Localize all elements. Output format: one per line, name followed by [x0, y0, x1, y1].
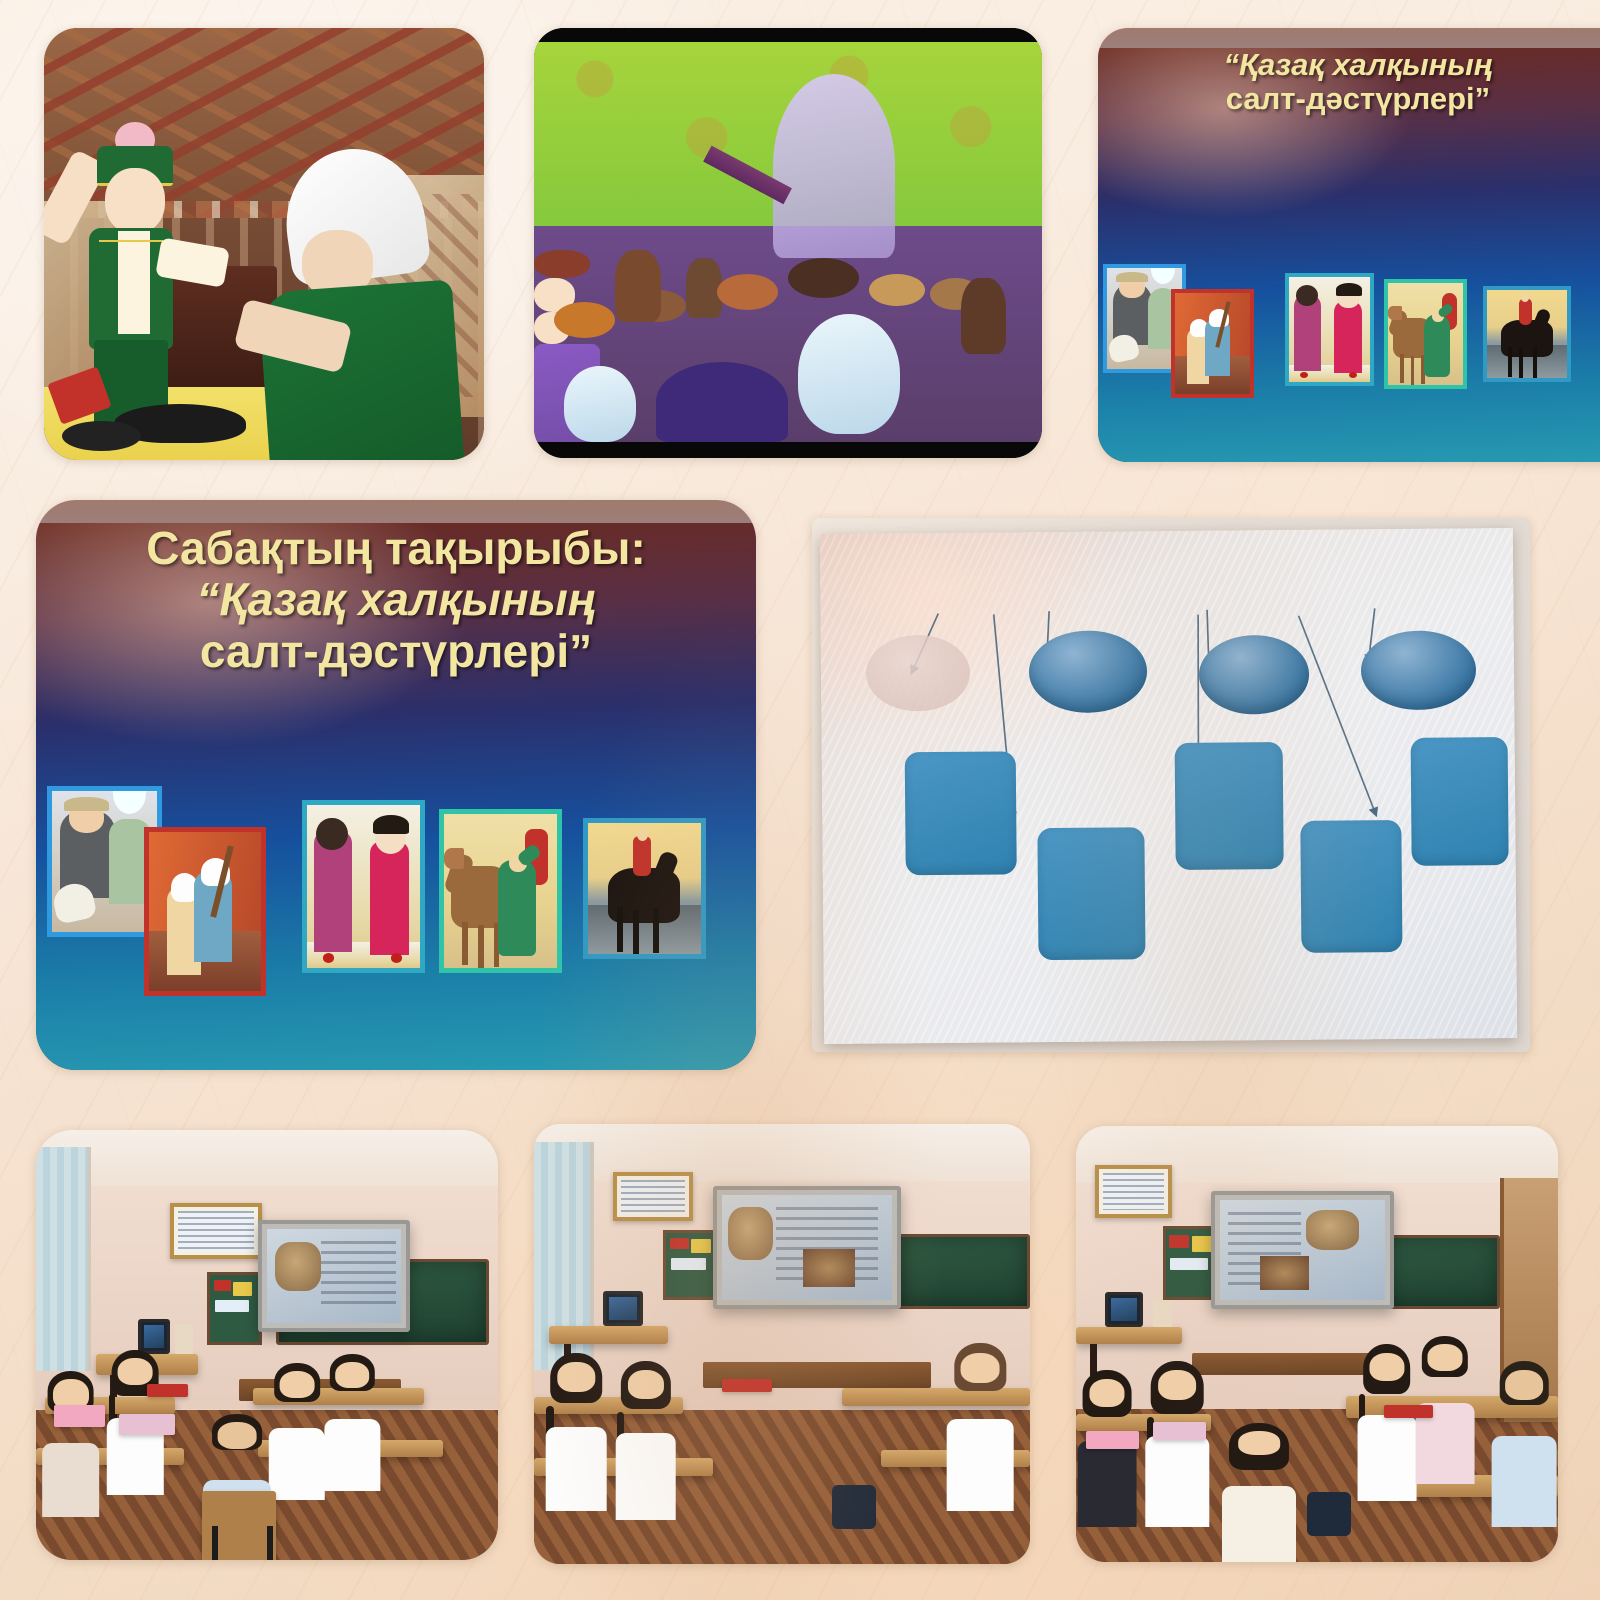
- chair-leg-1: [212, 1526, 218, 1560]
- book-pink-2: [119, 1414, 174, 1436]
- screen-picture: [728, 1207, 772, 1260]
- slide-traditions-diagram[interactable]: Атқа мінгізу: [812, 518, 1530, 1052]
- photo-child-hair: [373, 815, 409, 835]
- boy-head: [105, 168, 166, 235]
- student-3: [946, 1353, 1015, 1511]
- slide-photo-kids: [302, 800, 424, 973]
- classroom-scene-1: [36, 1130, 498, 1560]
- student-1-torso: [1078, 1441, 1137, 1527]
- pinboard: [663, 1230, 718, 1300]
- photo-man-green: [498, 860, 536, 956]
- projector-screen-image: [267, 1229, 401, 1323]
- slide-photo-horse-race: [1483, 286, 1571, 383]
- photo-classroom-2[interactable]: [534, 1124, 1030, 1564]
- bowl-1: [554, 302, 615, 338]
- slide-photo-spinning: [1171, 289, 1254, 398]
- white-sack-small: [564, 366, 635, 442]
- ceiling: [36, 1130, 498, 1186]
- photo-horse-leg-2: [478, 925, 484, 968]
- student-5-head: [218, 1422, 257, 1448]
- student-4-torso: [1357, 1415, 1416, 1501]
- node-besikke-salu[interactable]: [1175, 741, 1283, 869]
- computer-monitor: [138, 1319, 170, 1353]
- node-salemdeme[interactable]: [1029, 630, 1147, 713]
- photo-shoe-right: [391, 953, 402, 963]
- wall-poster: [170, 1203, 262, 1259]
- projector-screen-image: [722, 1195, 892, 1300]
- student-4-head: [336, 1362, 370, 1388]
- slide-photo-horse-race: [583, 818, 705, 959]
- bowl-4: [869, 274, 925, 306]
- book-red: [722, 1379, 772, 1392]
- black-shoes-second: [62, 421, 141, 451]
- backpack: [832, 1485, 877, 1529]
- wall-poster: [613, 1172, 692, 1220]
- classroom-scene-2: [534, 1124, 1030, 1564]
- projector-screen-image: [1220, 1200, 1385, 1300]
- computer-monitor: [1105, 1292, 1144, 1327]
- book-red: [1384, 1405, 1432, 1418]
- feast-scene: [534, 42, 1042, 442]
- student-5-head: [1427, 1344, 1462, 1371]
- student-1: [544, 1362, 608, 1512]
- book-red: [147, 1384, 189, 1397]
- slide-photo-kids: [1285, 273, 1373, 385]
- projector-screen-frame: [713, 1186, 901, 1309]
- computer-monitor: [603, 1291, 643, 1326]
- photo-grandfather-hair: [1116, 272, 1148, 282]
- photo-horse-leg-2: [1411, 356, 1415, 384]
- slide-title-large[interactable]: Сабақтың тақырыбы: “Қазақ халқының салт-…: [36, 500, 756, 1070]
- photo-race-rider-head: [637, 828, 648, 841]
- water-bottle: [1153, 1300, 1172, 1326]
- screen-text-block: [321, 1241, 396, 1310]
- illustration-yurt-greeting[interactable]: [44, 28, 484, 460]
- bowl-meat: [788, 258, 859, 298]
- pin-note-red: [1169, 1235, 1189, 1249]
- student-4-head: [1369, 1353, 1404, 1381]
- photo-dark-horse-leg-3: [653, 908, 659, 953]
- boy-vest-trim: [99, 240, 162, 242]
- photo-child-hair: [1336, 283, 1362, 296]
- photo-dark-horse-leg-3: [1533, 347, 1537, 377]
- photo-dark-horse-leg-2: [633, 910, 639, 955]
- student-2-head: [628, 1370, 664, 1398]
- photo-horse-head: [444, 848, 464, 870]
- student-3: [267, 1371, 327, 1500]
- screen-picture: [275, 1242, 321, 1291]
- jug-1: [615, 250, 661, 322]
- student-2-head: [1158, 1370, 1196, 1400]
- photo-dark-horse-leg-1: [617, 907, 623, 952]
- photo-horse-leg-1: [1400, 354, 1404, 382]
- window-blinds: [36, 1147, 91, 1371]
- projector-screen-frame: [1211, 1191, 1394, 1309]
- boy-shirt: [118, 231, 150, 334]
- student-1-torso: [546, 1427, 607, 1511]
- student-2: [613, 1370, 677, 1520]
- diagram-heading: [848, 543, 1485, 549]
- slide-photo-horse-mounting: [439, 809, 561, 973]
- poster-content: [1103, 1173, 1164, 1209]
- white-sack-large: [798, 314, 900, 434]
- water-bottle: [175, 1324, 193, 1354]
- classroom-scene-3: [1076, 1126, 1558, 1562]
- wall-poster: [1095, 1165, 1172, 1217]
- diagram-heading-reflection: [848, 572, 1485, 578]
- student-3-head: [280, 1371, 315, 1398]
- elder-green-robe: [258, 279, 464, 460]
- teacher-desk: [549, 1326, 668, 1344]
- photo-dark-horse-leg-1: [1508, 347, 1512, 377]
- book-pink-2: [1153, 1422, 1206, 1439]
- pin-note-yellow: [691, 1239, 710, 1253]
- student-6-torso: [1492, 1436, 1557, 1527]
- photo-horse-leg-1: [462, 922, 468, 965]
- photo-dark-horse-leg-2: [1519, 348, 1523, 378]
- screen-picture-2: [1260, 1256, 1310, 1290]
- bridal-veil: [773, 74, 895, 258]
- student-6-boy: [1491, 1370, 1558, 1527]
- photo-grandmother-head: [1151, 264, 1175, 284]
- chair-leg-2: [267, 1526, 273, 1560]
- node-bazarlyq[interactable]: [1361, 630, 1476, 710]
- node-suinshi[interactable]: [866, 635, 971, 712]
- photo-horse-head: [1388, 306, 1402, 320]
- book-pink-1: [1086, 1431, 1139, 1448]
- student-1-torso: [42, 1443, 100, 1517]
- student-4: [322, 1362, 382, 1491]
- node-qyz-uzatu[interactable]: [1411, 737, 1509, 865]
- student-1: [1076, 1379, 1139, 1527]
- slide-photo-spinning: [144, 827, 266, 996]
- student-3-head: [961, 1353, 1000, 1383]
- photo-collage: Дәстүрлі қазақ тойы — дастарқан, домбыра…: [0, 0, 1600, 1600]
- slide-photo-horse-mounting: [1384, 279, 1467, 388]
- node-sundet-toi[interactable]: [1300, 819, 1402, 952]
- student-3: [1221, 1431, 1298, 1562]
- photo-child-pink: [370, 841, 408, 955]
- pin-note-white: [671, 1258, 706, 1270]
- pin-note-white: [1170, 1258, 1208, 1270]
- pin-note-white: [215, 1300, 250, 1312]
- photo-man-green: [1424, 314, 1450, 377]
- student-1: [41, 1379, 101, 1517]
- student-4-torso: [325, 1419, 380, 1491]
- student-3-torso: [1222, 1486, 1296, 1562]
- photo-child-pink: [1334, 300, 1361, 373]
- bowl-3: [717, 274, 778, 310]
- student-2-torso: [615, 1433, 676, 1520]
- jug-3: [961, 278, 1007, 354]
- photo-classroom-3[interactable]: [1076, 1126, 1558, 1562]
- node-jeti-ata[interactable]: [905, 751, 1017, 874]
- poster-content: [178, 1211, 254, 1251]
- pin-note-yellow: [233, 1282, 253, 1297]
- student-1-head: [1090, 1379, 1125, 1407]
- chalkboard-right: [896, 1234, 1030, 1309]
- poster-content: [621, 1180, 684, 1212]
- person-left-hat: [534, 250, 590, 278]
- photo-girl-helper-head: [316, 818, 347, 851]
- purplele-cloth: [656, 362, 788, 442]
- node-korimdik[interactable]: [1198, 634, 1310, 714]
- monitor-screen: [1111, 1298, 1138, 1321]
- pin-note-red: [670, 1238, 689, 1250]
- photo-race-rider: [1519, 298, 1532, 325]
- illustration-kazakh-feast[interactable]: Дәстүрлі қазақ тойы — дастарқан, домбыра…: [534, 28, 1042, 458]
- student-3-head: [1238, 1431, 1280, 1455]
- projector-screen: [820, 528, 1517, 1044]
- pinboard: [207, 1272, 262, 1345]
- screen-picture: [1306, 1210, 1359, 1250]
- photo-grandfather-hair: [64, 797, 108, 811]
- student-6-head: [1505, 1370, 1543, 1400]
- node-tusau-keser[interactable]: [1037, 827, 1146, 961]
- projector-screen-frame: [258, 1220, 410, 1332]
- student-4: [1356, 1353, 1419, 1501]
- student-3-torso: [947, 1419, 1014, 1511]
- student-3-torso: [269, 1428, 325, 1500]
- screen-picture-2: [803, 1249, 854, 1287]
- slide-title-small[interactable]: “Қазақ халқының салт-дәстүрлері”: [1098, 28, 1600, 462]
- monitor-screen: [609, 1297, 637, 1320]
- book-pink-1: [54, 1405, 105, 1427]
- student-2-torso: [1146, 1436, 1209, 1527]
- backpack: [1307, 1492, 1350, 1536]
- student-2: [1143, 1370, 1210, 1527]
- student-2-head: [118, 1358, 153, 1386]
- photo-race-rider: [633, 836, 651, 875]
- pin-note-red: [214, 1280, 231, 1291]
- student-1-head: [557, 1362, 594, 1392]
- photo-grandmother-head: [113, 786, 147, 813]
- monitor-screen: [144, 1325, 164, 1347]
- ceiling: [534, 1124, 1030, 1181]
- elder-woman-figure: [255, 149, 466, 460]
- photo-classroom-1[interactable]: [36, 1130, 498, 1560]
- teacher-desk: [1076, 1327, 1182, 1344]
